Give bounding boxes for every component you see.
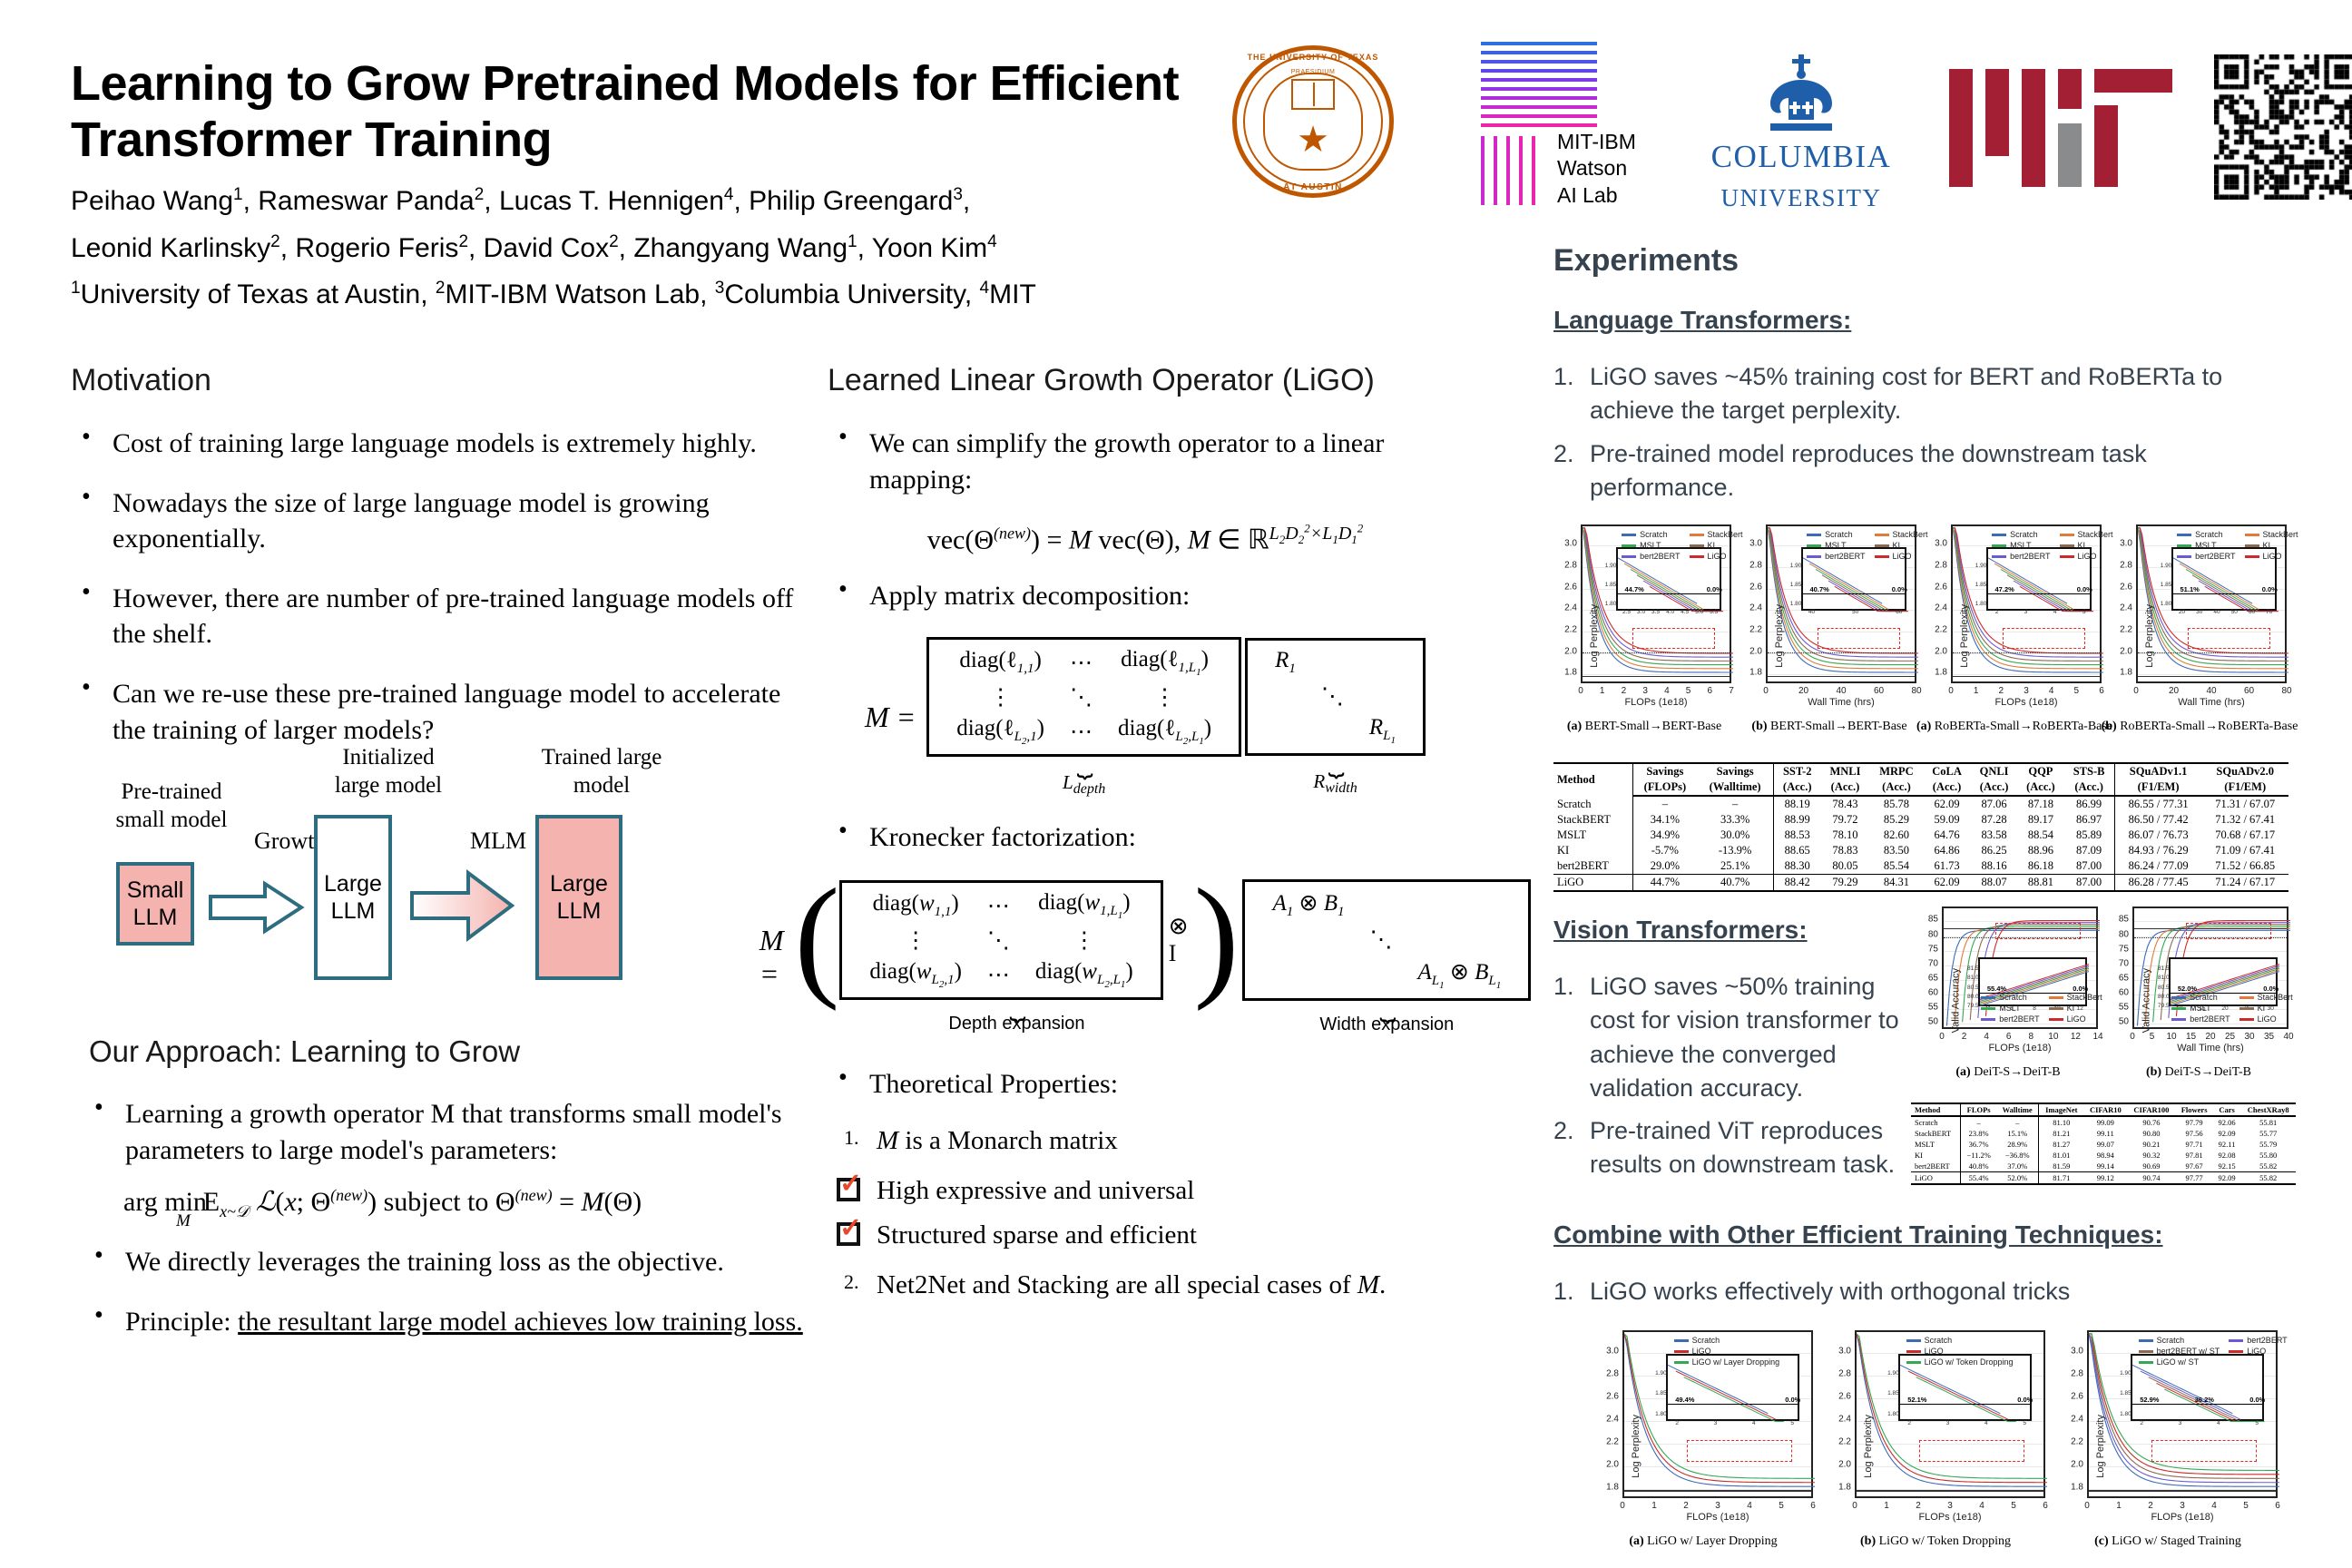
x-tick-deit-walltime-6: 30: [2244, 1032, 2254, 1042]
x-tick-roberta-walltime-4: 80: [2281, 686, 2291, 696]
language-results-table: MethodSavingsSavingsSST-2MNLIMRPCCoLAQNL…: [1553, 762, 2288, 892]
vision-point-1-index: 1.: [1553, 970, 1574, 1004]
lang-cell-4-3: 88.30: [1774, 858, 1821, 875]
x-tick-ligo-token-dropping-4: 4: [1979, 1501, 1984, 1511]
zoom-region-box: [2151, 1440, 2257, 1462]
vision-cell-4-6: 97.67: [2175, 1161, 2212, 1172]
legend-swatch-icon: [1906, 1350, 1921, 1353]
chart-ligo-staged-training: 52.9%36.2%0.0%1.801.851.902345Scratchber…: [2054, 1327, 2281, 1553]
lang-col-subheader-10: (F1/EM): [2114, 779, 2201, 796]
inset-savings-ligo-staged-training-1: 36.2%: [2195, 1396, 2214, 1404]
x-tick-ligo-token-dropping-5: 5: [2011, 1501, 2016, 1511]
inset-y-tick-0: 79.5: [2158, 1003, 2170, 1009]
matrix1-depth-label: Ldepth: [926, 771, 1241, 798]
authors-line-1: Peihao Wang1, Rameswar Panda2, Lucas T. …: [71, 178, 1205, 225]
approach-bullet-2: We directly leverages the training loss …: [83, 1244, 815, 1280]
y-tick-bert-flops-0: 1.8: [1564, 668, 1577, 678]
motivation-bullet-3: However, there are number of pre-trained…: [71, 581, 815, 652]
chart-caption-wrap-roberta-walltime: (b) RoBERTa-Small→RoBERTa-Base: [2102, 720, 2298, 734]
legend-item-stackbert: StackBert: [2049, 993, 2102, 1002]
chart-bert-flops: 44.7%0.0%1.801.851.902.53.03.54.04.55.05…: [1553, 521, 1735, 738]
legend-swatch-icon: [1690, 555, 1704, 558]
lang-cell-3-7: 86.25: [1971, 843, 2018, 858]
lang-col-header-9: STS-B: [2063, 763, 2114, 779]
y-tick-ligo-layer-dropping-6: 3.0: [1606, 1346, 1619, 1356]
matrix2-width-label: Width expansion: [1242, 1014, 1531, 1035]
ligo-bullet-1: We can simplify the growth operator to a…: [828, 426, 1463, 497]
vision-cell-5-3: 81.71: [2039, 1172, 2083, 1185]
vision-cell-1-4: 99.11: [2083, 1128, 2127, 1139]
motivation-bullet-4: Can we re-use these pre-trained language…: [71, 676, 815, 748]
lang-col-header-2: Savings: [1697, 763, 1773, 779]
legend-swatch-icon: [2171, 1018, 2186, 1021]
inset-x-tick-5: 70: [2266, 609, 2272, 615]
x-axis-label-bert-walltime: Wall Time (hrs): [1808, 697, 1875, 708]
chart-caption-wrap-ligo-staged-training: (c) LiGO w/ Staged Training: [2094, 1534, 2241, 1549]
x-tick-deit-flops-1: 2: [1962, 1032, 1967, 1042]
x-axis-label-ligo-layer-dropping: FLOPs (1e18): [1686, 1512, 1749, 1523]
table-row: KI−11.2%−36.8%81.0198.9490.3297.8192.085…: [1911, 1150, 2296, 1161]
vision-points-list: 1.LiGO saves ~50% training cost for visi…: [1553, 970, 1916, 1182]
chart-caption-deit-walltime: DeiT-S→DeiT-B: [2165, 1065, 2251, 1079]
chart-caption-ligo-layer-dropping: LiGO w/ Layer Dropping: [1647, 1534, 1777, 1548]
legend-item-ki: KI: [2049, 1004, 2102, 1013]
lang-cell-5-4: 79.29: [1820, 875, 1869, 892]
x-tick-ligo-staged-training-0: 0: [2084, 1501, 2090, 1511]
legend-deit-walltime: ScratchStackBertMSLTKIbert2BERTLiGO: [2171, 993, 2292, 1024]
lang-cell-1-1: 34.1%: [1632, 812, 1697, 828]
lang-cell-3-6: 64.86: [1923, 843, 1970, 858]
inset-y-tick-0: 1.80: [2120, 1411, 2131, 1417]
y-tick-roberta-flops-1: 2.0: [1935, 646, 1947, 656]
x-tick-roberta-flops-1: 1: [1974, 686, 1979, 696]
matrix2-width-bracket: A1 ⊗ B1 ⋱ AL1 ⊗ BL1: [1242, 879, 1531, 1001]
legend-item-bert2bert: bert2BERT: [2177, 552, 2235, 561]
inset-target-line: [1988, 593, 2090, 594]
lang-cell-1-11: 71.32 / 67.41: [2201, 812, 2288, 828]
legend-roberta-flops: ScratchStackBertMSLTKIbert2BERTLiGO: [1992, 530, 2112, 561]
x-tick-bert-walltime-4: 80: [1911, 686, 1921, 696]
y-tick-ligo-staged-training-5: 2.8: [2071, 1368, 2083, 1378]
vision-col-header-4: CIFAR10: [2083, 1103, 2127, 1116]
lang-cell-5-7: 88.07: [1971, 875, 2018, 892]
legend-swatch-icon: [1875, 534, 1889, 536]
y-tick-ligo-layer-dropping-0: 1.8: [1606, 1482, 1619, 1492]
y-tick-bert-flops-1: 2.0: [1564, 646, 1577, 656]
lang-cell-1-10: 86.50 / 77.42: [2114, 812, 2201, 828]
inset-x-tick-2: 3.5: [1651, 609, 1660, 615]
legend-swatch-icon: [1992, 555, 2006, 558]
legend-swatch-icon: [1674, 1350, 1689, 1353]
language-charts-row: 44.7%0.0%1.801.851.902.53.03.54.04.55.05…: [1553, 521, 2288, 748]
legend-label: Scratch: [1999, 993, 2027, 1002]
lang-cell-3-0: KI: [1553, 843, 1632, 858]
y-tick-ligo-staged-training-2: 2.2: [2071, 1436, 2083, 1446]
lang-cell-1-3: 88.99: [1774, 812, 1821, 828]
lang-cell-4-7: 88.16: [1971, 858, 2018, 875]
lang-cell-1-6: 59.09: [1923, 812, 1970, 828]
legend-swatch-icon: [2177, 555, 2191, 558]
chart-caption-label-ligo-token-dropping: (b): [1860, 1534, 1876, 1548]
vision-cell-2-4: 99.07: [2083, 1139, 2127, 1150]
legend-item-ligo: LiGO: [2049, 1014, 2102, 1024]
inset-x-tick-0: 2: [2140, 1420, 2143, 1426]
vision-charts-row: 55.4%0.0%79.580.080.581.081.54681012Scra…: [1915, 903, 2296, 1075]
y-tick-deit-flops-5: 75: [1928, 944, 1938, 954]
lang-col-header-5: MRPC: [1870, 763, 1924, 779]
legend-label: LiGO w/ Layer Dropping: [1692, 1357, 1780, 1367]
legend-item-mslt: MSLT: [1622, 541, 1680, 550]
legend-label: KI: [2067, 1004, 2075, 1013]
legend-label: LiGO: [2258, 1014, 2277, 1024]
legend-item-bert2bert: bert2BERT: [1981, 1014, 2039, 1024]
x-tick-deit-flops-3: 6: [2006, 1032, 2012, 1042]
mit-ibm-watson-ai-lab-logo-icon: MIT-IBM Watson AI Lab: [1481, 42, 1671, 205]
lang-cell-5-0: LiGO: [1553, 875, 1632, 892]
inset-target-line: [1618, 593, 1720, 594]
inset-y-tick-0: 79.5: [1967, 1003, 1979, 1009]
lang-col-header-6: CoLA: [1923, 763, 1970, 779]
inset-y-tick-0: 1.80: [1655, 1411, 1667, 1417]
vision-cell-1-2: 15.1%: [1996, 1128, 2039, 1139]
x-tick-bert-walltime-2: 40: [1836, 686, 1846, 696]
y-tick-roberta-walltime-0: 1.8: [2120, 668, 2132, 678]
legend-swatch-icon: [1622, 544, 1636, 547]
qr-code-icon: [2214, 54, 2352, 200]
columbia-wordmark: COLUMBIA UNIVERSITY: [1693, 138, 1909, 215]
lang-cell-0-10: 86.55 / 77.31: [2114, 796, 2201, 812]
inset-series-scratch: [1668, 1366, 1768, 1414]
legend-item-scratch: Scratch: [1981, 993, 2039, 1002]
lang-cell-4-8: 86.18: [2017, 858, 2063, 875]
inset-x-tick-1: 3: [2179, 1420, 2182, 1426]
lang-cell-3-3: 88.65: [1774, 843, 1821, 858]
legend-label: LiGO w/ ST: [2157, 1357, 2200, 1367]
vision-cell-4-4: 99.14: [2083, 1161, 2127, 1172]
flow-caption-initialized: Initialized large model: [298, 744, 479, 799]
authors-line-2: Leonid Karlinsky2, Rogerio Feris2, David…: [71, 225, 1205, 272]
x-tick-ligo-token-dropping-0: 0: [1852, 1501, 1857, 1511]
plot-area-roberta-walltime: 51.1%0.0%1.801.851.90203040506070Scratch…: [2136, 524, 2287, 683]
chart-caption-label-ligo-staged-training: (c): [2094, 1534, 2109, 1548]
legend-item-ligo-w/-layer-dropping: LiGO w/ Layer Dropping: [1674, 1357, 1780, 1367]
flow-label-mlm: MLM: [470, 828, 526, 855]
lang-cell-5-9: 87.00: [2063, 875, 2114, 892]
vision-cell-0-6: 97.79: [2175, 1116, 2212, 1128]
legend-deit-flops: ScratchStackBertMSLTKIbert2BERTLiGO: [1981, 993, 2102, 1024]
combine-point-1-index: 1.: [1553, 1275, 1574, 1308]
inset-target-line: [1803, 593, 1905, 594]
chart-caption-wrap-ligo-token-dropping: (b) LiGO w/ Token Dropping: [1860, 1534, 2011, 1549]
inset-y-tick-2: 80.5: [1967, 985, 1979, 991]
vision-cell-4-3: 81.59: [2039, 1161, 2083, 1172]
vision-cell-3-5: 90.32: [2127, 1150, 2175, 1161]
legend-label: bert2BERT w/ ST: [2157, 1347, 2220, 1356]
combine-point-1: 1.LiGO works effectively with orthogonal…: [1553, 1275, 2288, 1308]
lang-cell-0-6: 62.09: [1923, 796, 1970, 812]
legend-swatch-icon: [2171, 1007, 2186, 1010]
inset-target-line: [1900, 1404, 2030, 1405]
inset-x-tick-3: 50: [2231, 609, 2238, 615]
legend-label: Scratch: [2010, 530, 2038, 539]
approach-objective-formula: arg minMEx~𝒟 ℒ(x; Θ(new)) subject to Θ(n…: [123, 1186, 815, 1222]
inset-x-tick-1: 50: [1852, 609, 1858, 615]
y-tick-bert-walltime-3: 2.4: [1749, 603, 1762, 613]
lang-cell-5-3: 88.42: [1774, 875, 1821, 892]
legend-item-scratch: Scratch: [1807, 530, 1865, 539]
x-tick-deit-flops-6: 12: [2071, 1032, 2081, 1042]
inset-y-tick-0: 1.80: [1605, 601, 1617, 607]
table-row: LiGO55.4%52.0%81.7199.1290.7497.7792.095…: [1911, 1172, 2296, 1185]
flow-caption-trained: Trained large model: [506, 744, 697, 799]
y-axis-label-deit-walltime: Valid Accuracy: [2141, 968, 2152, 1033]
ligo-bullet-2: Apply matrix decomposition:: [828, 578, 1463, 614]
x-tick-ligo-token-dropping-3: 3: [1947, 1501, 1953, 1511]
vision-cell-0-8: 55.81: [2240, 1116, 2296, 1128]
y-tick-bert-flops-2: 2.2: [1564, 624, 1577, 634]
y-axis-label-roberta-flops: Log Perplexity: [1959, 604, 1970, 668]
inset-y-tick-2: 1.90: [1605, 563, 1617, 569]
inset-target-line: [2173, 593, 2275, 594]
legend-bert-flops: ScratchStackBertMSLTKIbert2BERTLiGO: [1622, 530, 1742, 561]
vision-cell-5-4: 99.12: [2083, 1172, 2127, 1185]
y-axis-label-bert-flops: Log Perplexity: [1589, 604, 1600, 668]
legend-label: LiGO w/ Token Dropping: [1925, 1357, 2014, 1367]
x-tick-ligo-staged-training-3: 3: [2180, 1501, 2185, 1511]
legend-item-ligo: LiGO: [1690, 552, 1743, 561]
chart-bert-walltime: 40.7%0.0%1.801.851.90405060ScratchStackB…: [1739, 521, 1920, 738]
legend-label: bert2BERT: [2010, 552, 2050, 561]
vision-cell-0-3: 81.10: [2039, 1116, 2083, 1128]
legend-label: Scratch: [2195, 530, 2223, 539]
legend-label: bert2BERT: [1825, 552, 1865, 561]
legend-label: Scratch: [1925, 1336, 1953, 1345]
inset-y-tick-2: 80.5: [2158, 985, 2170, 991]
legend-swatch-icon: [2060, 534, 2074, 536]
target-line: [2138, 676, 2285, 678]
property-2-index: 2.: [844, 1270, 859, 1294]
ligo-bullet-3-wrap: Kronecker factorization:: [828, 819, 1463, 856]
motivation-heading: Motivation: [71, 363, 815, 398]
legend-swatch-icon: [1981, 1018, 1995, 1021]
ligo-heading: Learned Linear Growth Operator (LiGO): [828, 363, 1463, 398]
vision-cell-1-0: StackBERT: [1911, 1128, 1961, 1139]
inset-savings-bert-flops-0: 44.7%: [1625, 585, 1644, 593]
x-tick-ligo-layer-dropping-4: 4: [1747, 1501, 1752, 1511]
columbia-line1: COLUMBIA: [1693, 138, 1909, 177]
inset-x-tick-3: 5: [1790, 1420, 1794, 1426]
legend-item-bert2bert: bert2BERT: [2229, 1336, 2287, 1345]
vision-col-header-5: CIFAR100: [2127, 1103, 2175, 1116]
legend-label: bert2BERT: [2247, 1336, 2287, 1345]
vision-cell-4-1: 40.8%: [1961, 1161, 1996, 1172]
chart-caption-label-roberta-flops: (a): [1916, 720, 1931, 733]
x-tick-bert-flops-3: 3: [1642, 686, 1648, 696]
y-tick-ligo-staged-training-4: 2.6: [2071, 1391, 2083, 1401]
inset-x-tick-1: 3: [1946, 1420, 1950, 1426]
property-2: 2. Net2Net and Stacking are all special …: [877, 1270, 1463, 1300]
legend-item-ligo: LiGO: [2060, 552, 2113, 561]
vision-cell-3-6: 97.81: [2175, 1150, 2212, 1161]
chart-ligo-token-dropping: 52.1%0.0%1.801.851.902345ScratchLiGOLiGO…: [1822, 1327, 2049, 1553]
vision-results-table: MethodFLOPsWalltimeImageNetCIFAR10CIFAR1…: [1911, 1102, 2296, 1185]
mit-ibm-line1: MIT-IBM: [1557, 129, 1636, 155]
inset-series-scratch: [1900, 1366, 2000, 1414]
ligo-bullet-3: Kronecker factorization:: [828, 819, 1463, 856]
inset-y-tick-2: 1.90: [1790, 563, 1802, 569]
inset-y-tick-1: 1.85: [2161, 582, 2172, 588]
legend-swatch-icon: [2049, 996, 2063, 999]
lang-col-header-8: QQP: [2017, 763, 2063, 779]
vision-cell-3-3: 81.01: [2039, 1150, 2083, 1161]
legend-swatch-icon: [1674, 1339, 1689, 1342]
legend-swatch-icon: [2139, 1350, 2153, 1353]
legend-item-mslt: MSLT: [1807, 541, 1865, 550]
approach-bullet-3: Principle: the resultant large model ach…: [83, 1304, 815, 1340]
legend-label: StackBert: [1708, 530, 1743, 539]
y-tick-roberta-flops-6: 3.0: [1935, 539, 1947, 549]
legend-label: LiGO: [2078, 552, 2097, 561]
inset-savings-ligo-staged-training-2: 0.0%: [2249, 1396, 2265, 1404]
lang-cell-2-10: 86.07 / 76.73: [2114, 828, 2201, 843]
vision-transformers-subheading: Vision Transformers:: [1553, 916, 1916, 945]
legend-label: KI: [2263, 541, 2271, 550]
inset-series-scratch: [1988, 558, 2067, 603]
x-tick-ligo-staged-training-5: 5: [2243, 1501, 2249, 1511]
legend-item-ligo: LiGO: [2239, 1014, 2293, 1024]
vision-cell-2-8: 55.79: [2240, 1139, 2296, 1150]
x-tick-deit-walltime-2: 10: [2166, 1032, 2176, 1042]
mit-ibm-line3: AI Lab: [1557, 182, 1636, 209]
lang-cell-0-3: 88.19: [1774, 796, 1821, 812]
property-1: 1. M is a Monarch matrix: [877, 1126, 1463, 1156]
legend-item-stackbert: StackBert: [2060, 530, 2113, 539]
linear-mapping-formula: vec(Θ(new)) = M vec(Θ), M ∈ ℝL2D22×L1D12: [828, 521, 1463, 556]
legend-label: LiGO: [1925, 1347, 1944, 1356]
x-tick-deit-walltime-8: 40: [2283, 1032, 2293, 1042]
inset-x-tick-4: 60: [2249, 609, 2255, 615]
table-row: bert2BERT29.0%25.1%88.3080.0585.5461.738…: [1553, 858, 2288, 875]
lang-cell-2-8: 88.54: [2017, 828, 2063, 843]
legend-label: bert2BERT: [2195, 552, 2235, 561]
inset-savings-roberta-flops-0: 47.2%: [1995, 585, 2014, 593]
lang-col-subheader-8: (Acc.): [2017, 779, 2063, 796]
inset-savings-deit-flops-1: 0.0%: [2073, 985, 2088, 993]
inset-savings-bert-walltime-1: 0.0%: [1892, 585, 1907, 593]
y-tick-deit-walltime-7: 85: [2119, 915, 2129, 925]
table-row: KI-5.7%-13.9%88.6578.8383.5064.8686.2588…: [1553, 843, 2288, 858]
lang-col-header-4: MNLI: [1820, 763, 1869, 779]
vision-cell-1-6: 97.56: [2175, 1128, 2212, 1139]
table-row: MSLT36.7%28.9%81.2799.0790.2197.7192.115…: [1911, 1139, 2296, 1150]
y-tick-roberta-flops-0: 1.8: [1935, 668, 1947, 678]
matrix2-lhs: M =: [759, 924, 784, 991]
legend-swatch-icon: [2229, 1339, 2243, 1342]
legend-item-scratch: Scratch: [2139, 1336, 2220, 1345]
legend-swatch-icon: [1981, 1007, 1995, 1010]
y-tick-roberta-flops-2: 2.2: [1935, 624, 1947, 634]
legend-label: StackBert: [2078, 530, 2113, 539]
y-tick-ligo-token-dropping-0: 1.8: [1838, 1482, 1851, 1492]
x-tick-ligo-staged-training-2: 2: [2148, 1501, 2153, 1511]
crown-icon: [1747, 54, 1856, 136]
target-line: [1953, 676, 2100, 678]
x-axis-label-bert-flops: FLOPs (1e18): [1624, 697, 1687, 708]
flow-box-large-llm-init: LargeLLM: [314, 815, 392, 980]
y-tick-ligo-token-dropping-5: 2.8: [1838, 1368, 1851, 1378]
x-tick-deit-walltime-3: 15: [2186, 1032, 2196, 1042]
inset-x-tick-1: 3: [1714, 1420, 1718, 1426]
inset-target-line: [1668, 1404, 1798, 1405]
legend-swatch-icon: [2177, 534, 2191, 536]
inset-x-tick-0: 20: [2179, 609, 2185, 615]
legend-swatch-icon: [1875, 544, 1889, 547]
inset-y-tick-0: 1.80: [1790, 601, 1802, 607]
legend-label: StackBert: [2258, 993, 2293, 1002]
vision-cell-5-2: 52.0%: [1996, 1172, 2039, 1185]
inset-y-tick-2: 1.90: [1887, 1370, 1899, 1377]
x-tick-roberta-flops-2: 2: [1999, 686, 2004, 696]
legend-label: LiGO: [1692, 1347, 1711, 1356]
legend-item-ligo: LiGO: [2229, 1347, 2287, 1356]
x-tick-ligo-layer-dropping-6: 6: [1810, 1501, 1816, 1511]
lang-col-header-11: SQuADv2.0: [2201, 763, 2288, 779]
inset-y-tick-1: 1.85: [1887, 1390, 1899, 1396]
legend-swatch-icon: [1875, 555, 1889, 558]
zoom-region-box: [1818, 628, 1900, 649]
y-axis-label-deit-flops: Valid Accuracy: [1951, 968, 1962, 1033]
y-tick-ligo-layer-dropping-5: 2.8: [1606, 1368, 1619, 1378]
lang-cell-3-1: -5.7%: [1632, 843, 1697, 858]
lang-cell-1-9: 86.97: [2063, 812, 2114, 828]
legend-swatch-icon: [2245, 555, 2259, 558]
x-tick-bert-walltime-1: 20: [1798, 686, 1808, 696]
y-tick-deit-flops-3: 65: [1928, 973, 1938, 983]
inset-x-tick-1: 30: [2196, 609, 2202, 615]
legend-label: LiGO: [1893, 552, 1912, 561]
x-axis-label-ligo-staged-training: FLOPs (1e18): [2151, 1512, 2213, 1523]
legend-swatch-icon: [1622, 534, 1636, 536]
chart-deit-walltime: 52.0%0.0%79.580.080.581.081.51015202530S…: [2105, 903, 2292, 1083]
lang-cell-3-2: -13.9%: [1697, 843, 1773, 858]
legend-ligo-layer-dropping: ScratchLiGOLiGO w/ Layer Dropping: [1674, 1336, 1780, 1367]
vision-cell-4-8: 55.82: [2240, 1161, 2296, 1172]
inset-x-tick-4: 4.5: [1681, 609, 1689, 615]
legend-item-scratch: Scratch: [1622, 530, 1680, 539]
x-axis-label-deit-walltime: Wall Time (hrs): [2177, 1043, 2244, 1053]
legend-swatch-icon: [2171, 996, 2186, 999]
lang-cell-0-8: 87.18: [2017, 796, 2063, 812]
legend-label: StackBert: [1893, 530, 1928, 539]
motivation-bullet-2: Nowadays the size of large language mode…: [71, 485, 815, 557]
inset-x-tick-3: 5: [2082, 609, 2086, 615]
ligo-bullet-2-wrap: Apply matrix decomposition:: [828, 578, 1463, 614]
inset-y-tick-1: 1.85: [1605, 582, 1617, 588]
lang-cell-5-2: 40.7%: [1697, 875, 1773, 892]
approach-bullet-list-2: We directly leverages the training loss …: [83, 1244, 815, 1339]
y-tick-ligo-token-dropping-2: 2.2: [1838, 1436, 1851, 1446]
inset-target-line: [2132, 1404, 2262, 1405]
lang-cell-5-10: 86.28 / 77.45: [2114, 875, 2201, 892]
lang-cell-2-6: 64.76: [1923, 828, 1970, 843]
x-tick-ligo-token-dropping-6: 6: [2043, 1501, 2048, 1511]
lang-cell-3-10: 84.93 / 76.29: [2114, 843, 2201, 858]
lang-cell-5-6: 62.09: [1923, 875, 1970, 892]
lang-cell-2-2: 30.0%: [1697, 828, 1773, 843]
x-tick-bert-flops-2: 2: [1622, 686, 1627, 696]
chart-caption-wrap-ligo-layer-dropping: (a) LiGO w/ Layer Dropping: [1629, 1534, 1777, 1549]
lang-cell-2-3: 88.53: [1774, 828, 1821, 843]
